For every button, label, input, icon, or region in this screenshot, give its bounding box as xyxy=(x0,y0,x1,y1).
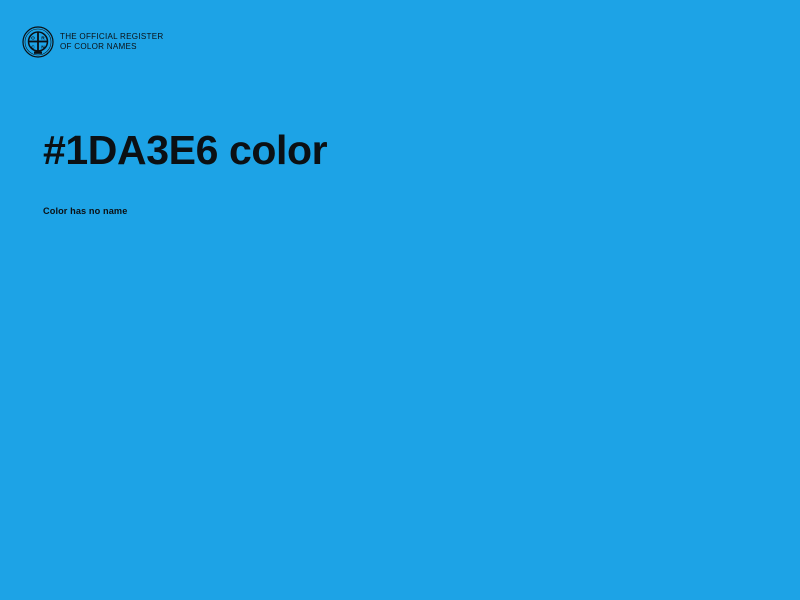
svg-text:C: C xyxy=(31,44,35,50)
svg-text:O: O xyxy=(31,35,35,41)
masthead-title-line-2: OF COLOR NAMES xyxy=(60,42,163,52)
svg-text:N: N xyxy=(41,44,45,50)
color-page: O R C N THE OFFICIAL REGISTER OF COLOR N… xyxy=(0,0,800,600)
svg-text:R: R xyxy=(41,35,45,41)
masthead[interactable]: O R C N THE OFFICIAL REGISTER OF COLOR N… xyxy=(22,26,163,58)
masthead-title-line-1: THE OFFICIAL REGISTER xyxy=(60,32,163,42)
color-name-status: Color has no name xyxy=(43,174,743,217)
page-title: #1DA3E6 color xyxy=(43,126,743,174)
color-info-block: #1DA3E6 color Color has no name xyxy=(43,126,743,217)
masthead-title: THE OFFICIAL REGISTER OF COLOR NAMES xyxy=(60,32,163,52)
official-register-seal-icon: O R C N xyxy=(22,26,54,58)
